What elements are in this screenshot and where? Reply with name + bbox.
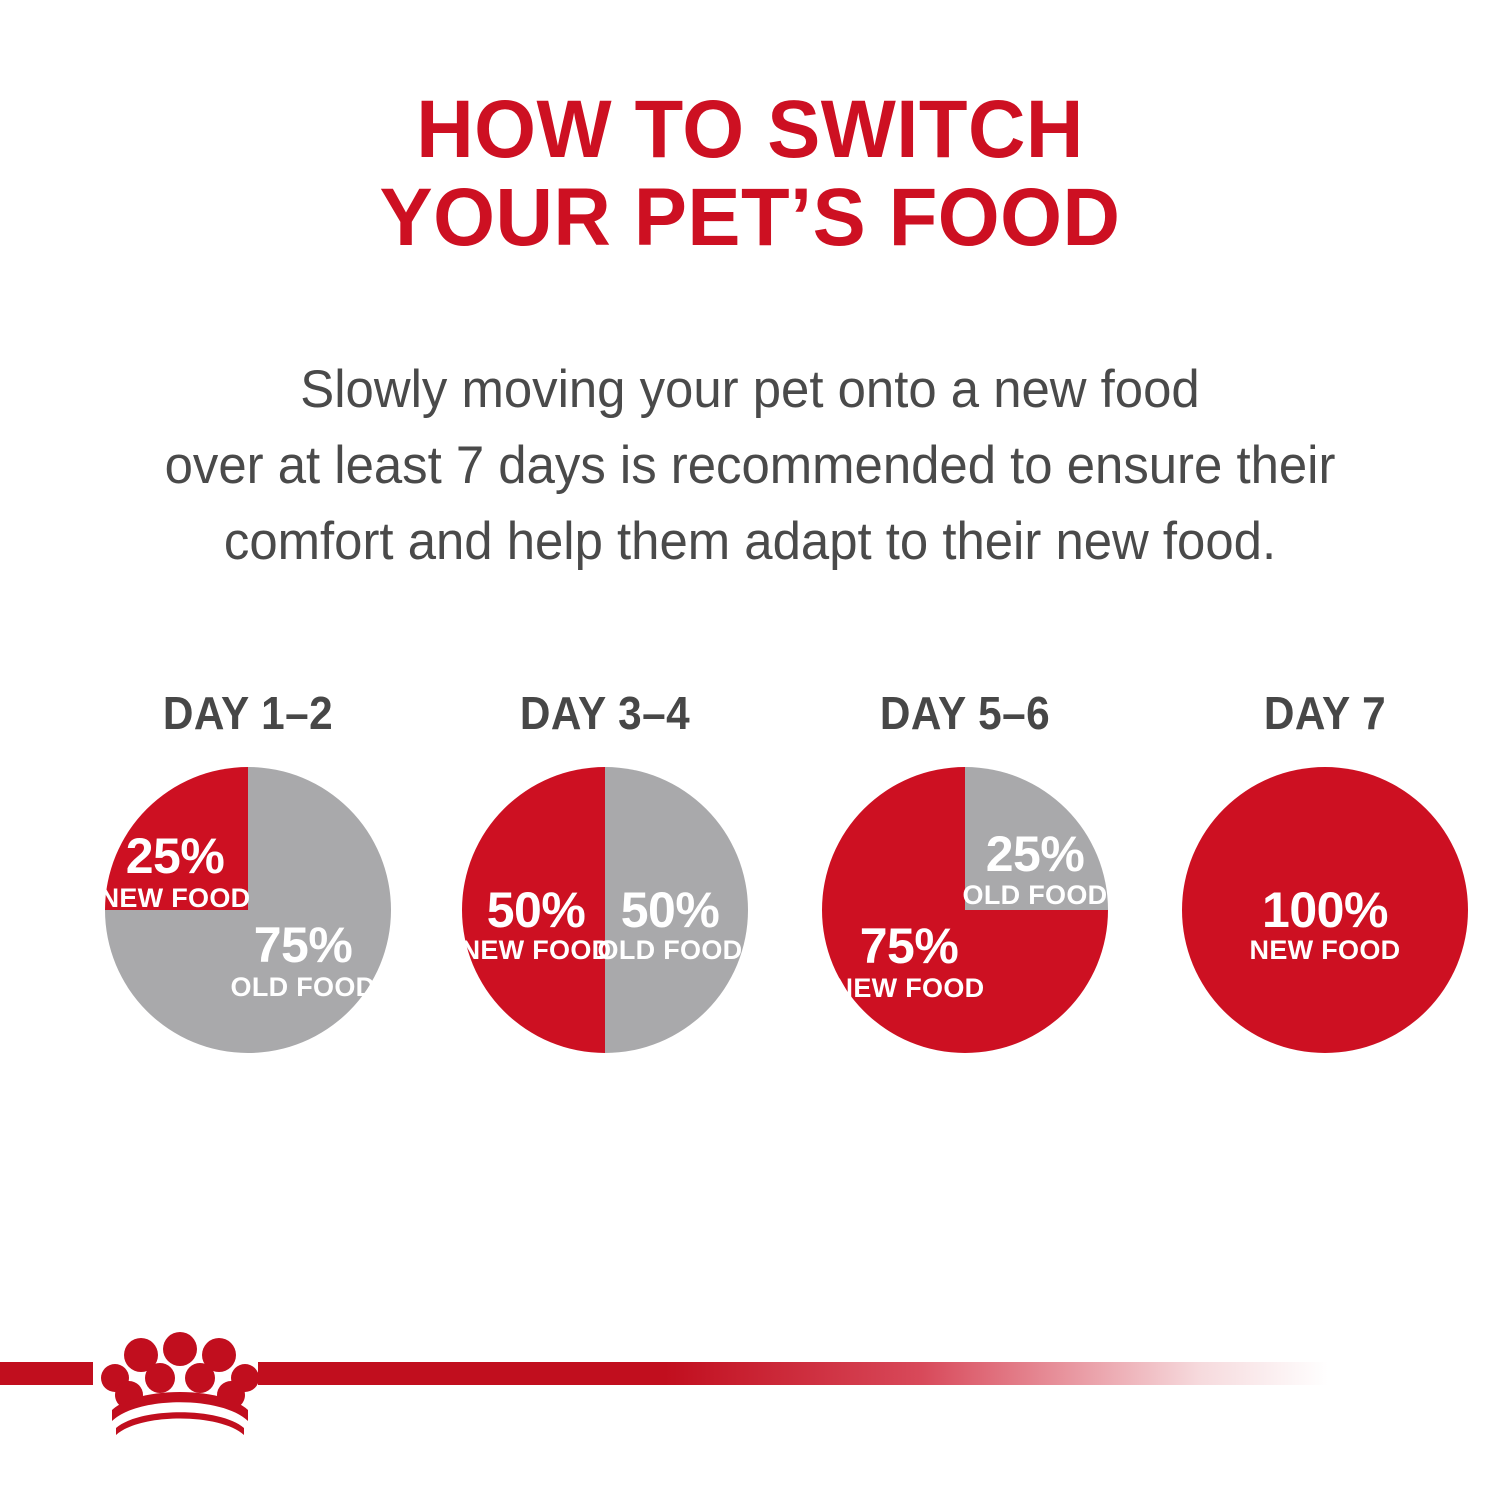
pie-chart-day-3-4: 50% NEW FOOD 50% OLD FOOD (462, 767, 748, 1053)
slice-pct-new-food: 75% (860, 918, 959, 974)
slice-pct-new-food: 50% (487, 882, 586, 938)
slice-pct-old-food: 75% (254, 917, 353, 973)
infographic-page: HOW TO SWITCH YOUR PET’S FOOD Slowly mov… (0, 0, 1500, 1500)
day-label-3: DAY 5–6 (827, 690, 1103, 736)
slice-sub-new-food: NEW FOOD (1250, 935, 1401, 965)
slice-pct-old-food: 50% (621, 882, 720, 938)
pie-chart-day-5-6: 25% OLD FOOD 75% NEW FOOD (822, 767, 1108, 1053)
day-label-2: DAY 3–4 (467, 690, 743, 736)
pie-chart-day-1-2: 25% NEW FOOD 75% OLD FOOD (105, 767, 391, 1053)
slice-sub-old-food: OLD FOOD (963, 880, 1108, 910)
day-label-1: DAY 1–2 (110, 690, 386, 736)
pie-chart-row: DAY 1–2 25% NEW FOOD 75% OLD FOOD DAY 3–… (0, 0, 1500, 1500)
slice-sub-old-food: OLD FOOD (598, 935, 743, 965)
slice-sub-new-food: NEW FOOD (834, 973, 985, 1003)
day-label-4: DAY 7 (1187, 690, 1463, 736)
royal-canin-crown-icon (100, 1325, 260, 1442)
brand-stripe-left (0, 1362, 93, 1385)
slice-pct-new-food: 100% (1262, 882, 1388, 938)
slice-pct-new-food: 25% (126, 828, 225, 884)
slice-pct-old-food: 25% (986, 826, 1085, 882)
pie-chart-day-7: 100% NEW FOOD (1182, 767, 1468, 1053)
brand-stripe-right (258, 1362, 1328, 1385)
slice-sub-new-food: NEW FOOD (105, 883, 250, 913)
slice-sub-new-food: NEW FOOD (462, 935, 611, 965)
slice-sub-old-food: OLD FOOD (231, 972, 376, 1002)
